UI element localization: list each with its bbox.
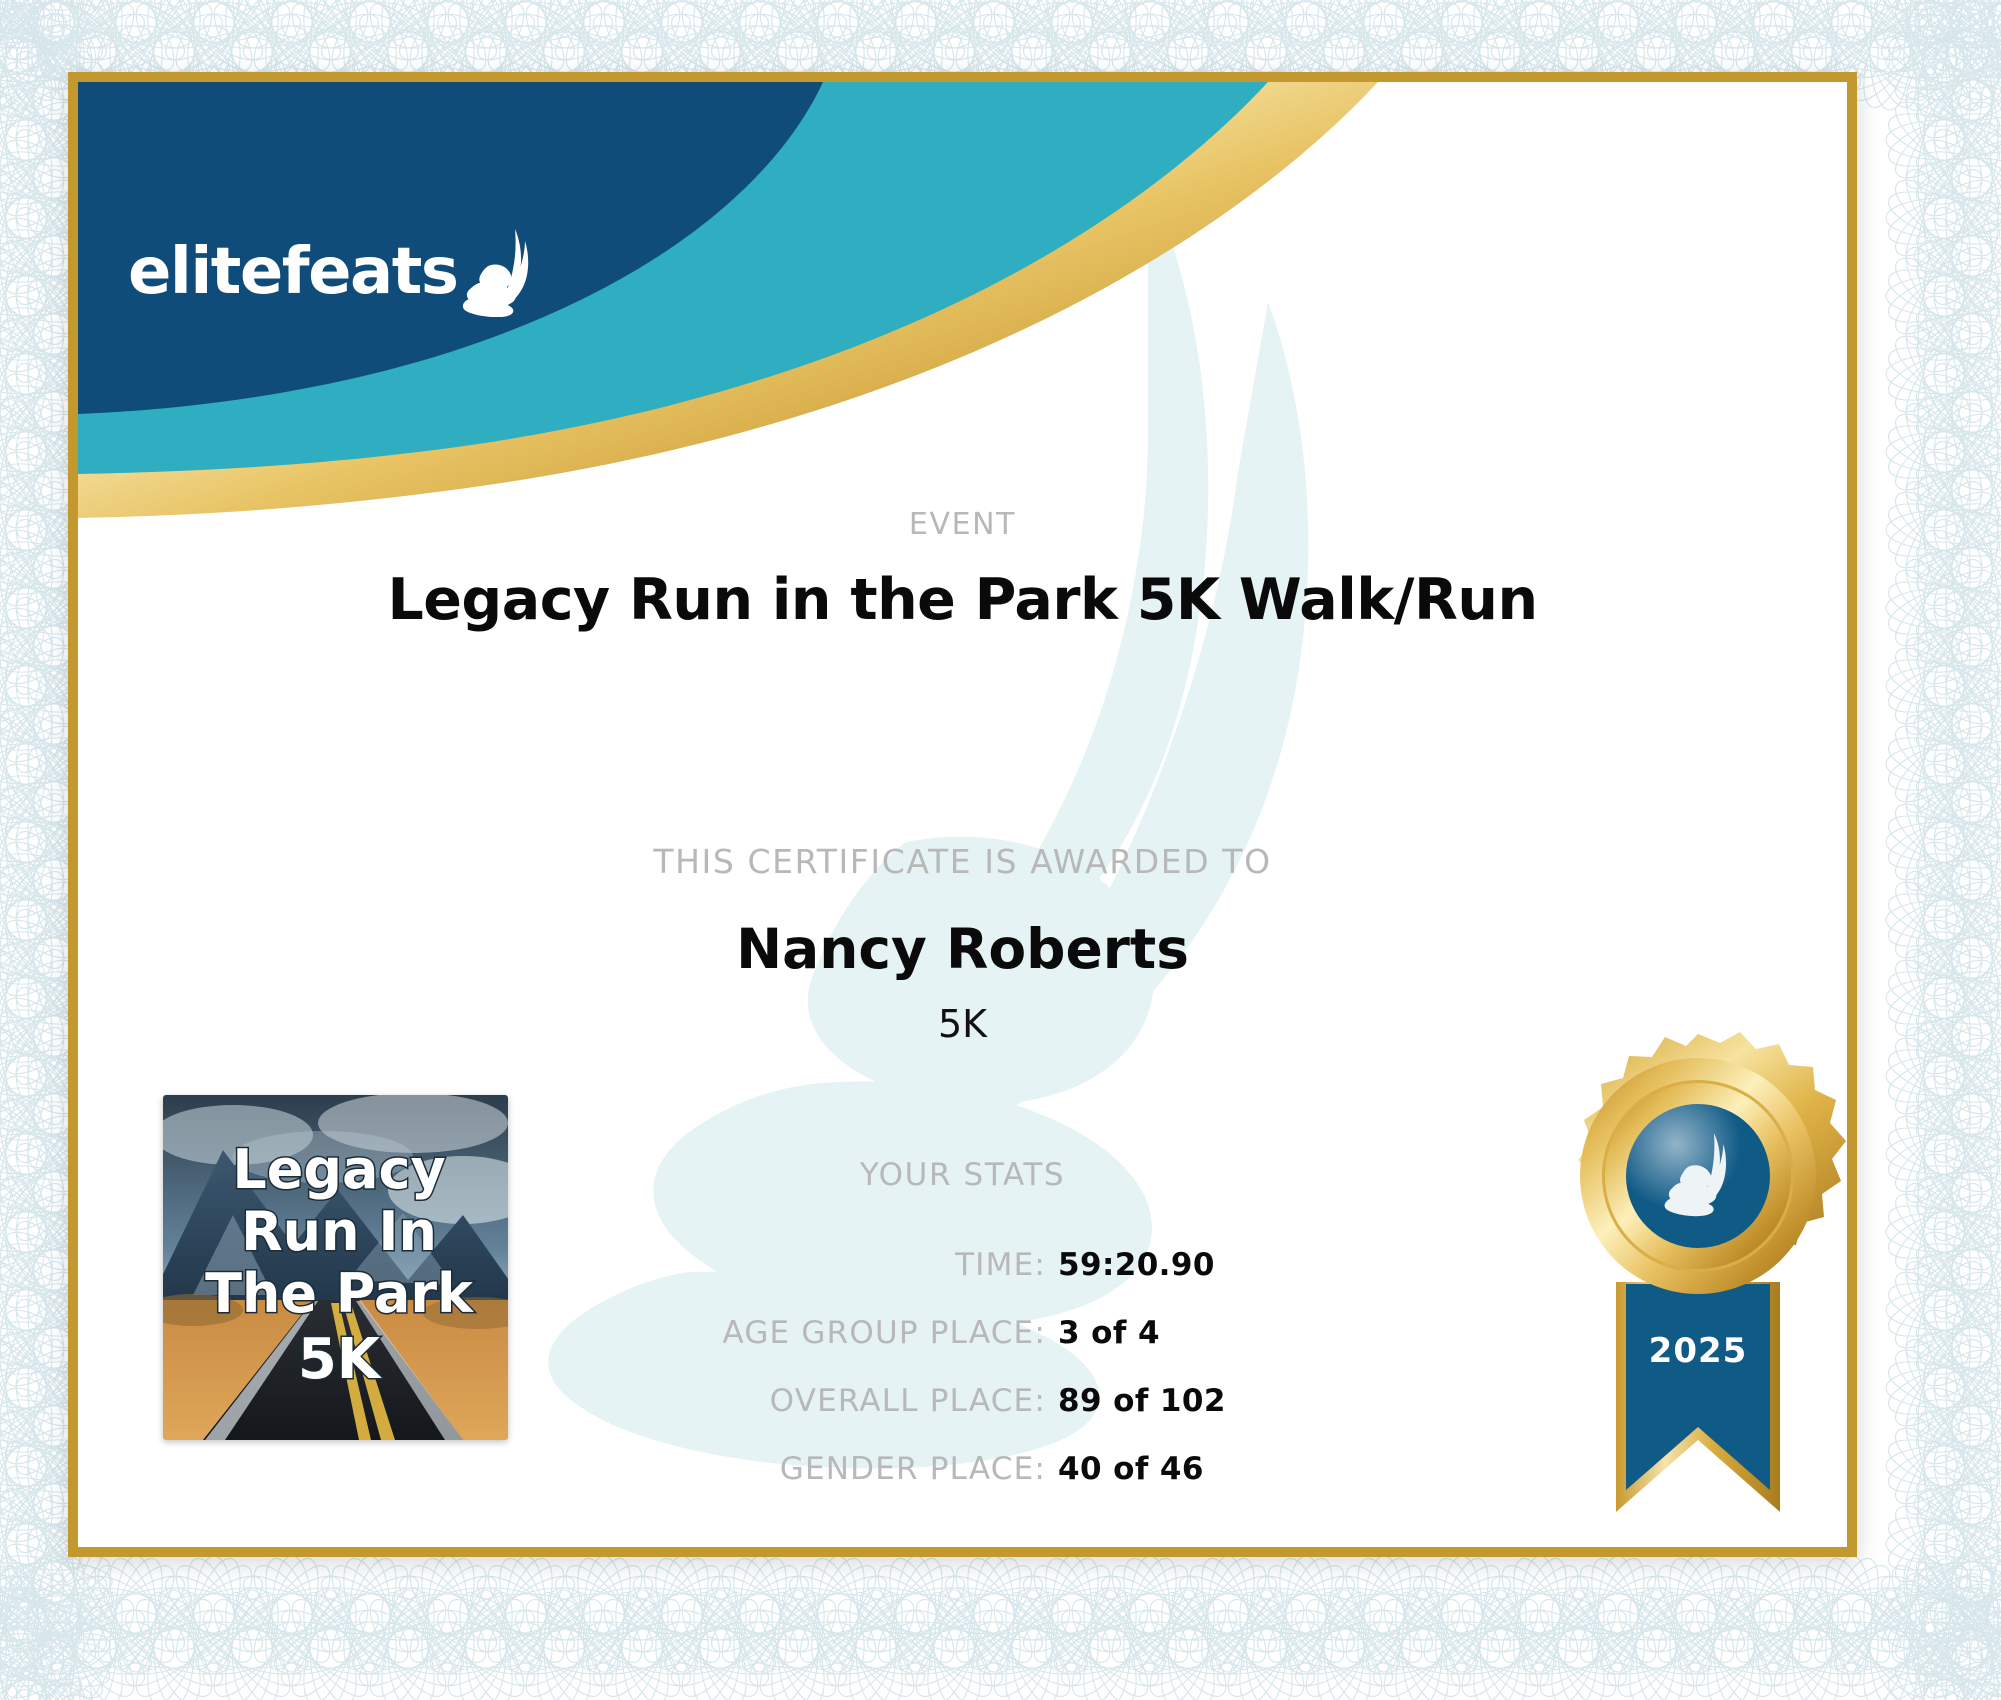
stat-value: 3 of 4 [1058, 1315, 1258, 1351]
winged-foot-icon [461, 227, 533, 317]
certificate-body: elitefeats EVENT Legacy Run in the Park … [78, 82, 1847, 1547]
recipient-name: Nancy Roberts [78, 917, 1847, 981]
stat-row: OVERALL PLACE: 89 of 102 [478, 1383, 1258, 1451]
stats-list: TIME: 59:20.90 AGE GROUP PLACE: 3 of 4 O… [478, 1247, 1258, 1519]
stat-row: AGE GROUP PLACE: 3 of 4 [478, 1315, 1258, 1383]
brand-wordmark: elitefeats [128, 240, 457, 304]
stat-key: OVERALL PLACE: [770, 1383, 1046, 1419]
event-label: EVENT [78, 507, 1847, 542]
stat-key: TIME: [955, 1247, 1046, 1283]
awarded-to-label: THIS CERTIFICATE IS AWARDED TO [78, 842, 1847, 881]
event-title: Legacy Run in the Park 5K Walk/Run [78, 567, 1847, 633]
stat-key: AGE GROUP PLACE: [722, 1315, 1046, 1351]
brand-logo: elitefeats [128, 212, 548, 332]
svg-text:2025: 2025 [1649, 1331, 1748, 1371]
race-logo-image: Legacy Run In The Park 5K [163, 1095, 508, 1440]
svg-text:Legacy: Legacy [232, 1138, 445, 1201]
svg-text:Run In: Run In [241, 1200, 437, 1263]
stat-key: GENDER PLACE: [780, 1451, 1046, 1487]
svg-text:5K: 5K [298, 1327, 383, 1392]
stat-value: 40 of 46 [1058, 1451, 1258, 1487]
stat-row: GENDER PLACE: 40 of 46 [478, 1451, 1258, 1519]
stat-row: TIME: 59:20.90 [478, 1247, 1258, 1315]
finisher-medal: 2025 [1533, 1032, 1847, 1547]
stat-value: 59:20.90 [1058, 1247, 1258, 1283]
stat-value: 89 of 102 [1058, 1383, 1258, 1419]
certificate-page: elitefeats EVENT Legacy Run in the Park … [0, 0, 2001, 1700]
svg-text:The Park: The Park [205, 1262, 474, 1325]
